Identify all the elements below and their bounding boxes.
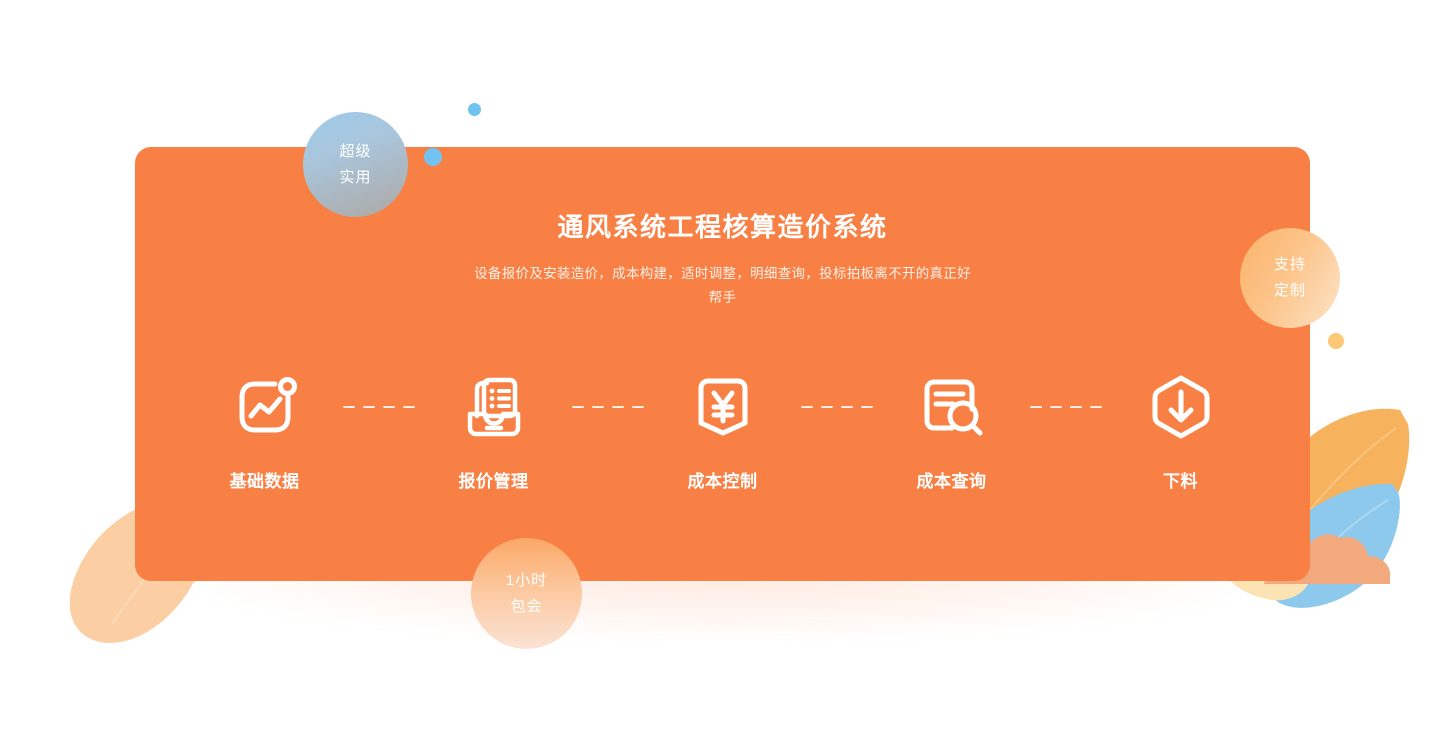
badge-line-2: 定制 [1274, 278, 1306, 304]
dash [1050, 406, 1062, 409]
dash [1030, 406, 1042, 409]
inbox-document-icon [452, 365, 536, 449]
dash [572, 406, 584, 409]
feature-item-quote-management[interactable]: 报价管理 [428, 365, 560, 492]
dash [821, 406, 833, 409]
document-search-icon [910, 365, 994, 449]
badge-support-custom: 支持 定制 [1240, 228, 1340, 328]
feature-label: 成本控制 [688, 467, 758, 492]
dash [1070, 406, 1082, 409]
hero-card: 通风系统工程核算造价系统 设备报价及安装造价，成本构建，适时调整，明细查询，投标… [135, 147, 1310, 581]
hexagon-download-icon [1139, 365, 1223, 449]
dash [612, 406, 624, 409]
dash [403, 406, 415, 409]
connector-dashes-2 [560, 365, 657, 449]
badge-line-1: 超级 [339, 139, 371, 165]
badge-line-2: 实用 [339, 165, 371, 191]
dash [841, 406, 853, 409]
page-subtitle: 设备报价及安装造价，成本构建，适时调整，明细查询，投标拍板离不开的真正好帮手 [468, 262, 978, 310]
hero-banner: 通风系统工程核算造价系统 设备报价及安装造价，成本构建，适时调整，明细查询，投标… [0, 0, 1440, 730]
badge-line-2: 包会 [510, 594, 542, 620]
feature-item-material-cutting[interactable]: 下料 [1115, 365, 1247, 492]
dash [592, 406, 604, 409]
connector-dashes-1 [331, 365, 428, 449]
badge-line-1: 支持 [1274, 252, 1306, 278]
badge-one-hour-guarantee: 1小时 包会 [471, 538, 582, 649]
feature-item-cost-control[interactable]: 成本控制 [657, 365, 789, 492]
connector-dashes-4 [1018, 365, 1115, 449]
blue-dot-small [468, 103, 481, 116]
badge-line-1: 1小时 [506, 568, 547, 594]
feature-label: 成本查询 [917, 467, 987, 492]
yuan-banner-icon [681, 365, 765, 449]
page-title: 通风系统工程核算造价系统 [135, 212, 1310, 243]
dash [1090, 406, 1102, 409]
orange-dot [1328, 333, 1344, 349]
chart-square-icon [223, 365, 307, 449]
feature-item-cost-query[interactable]: 成本查询 [886, 365, 1018, 492]
blue-dot-large [424, 148, 442, 166]
dash [801, 406, 813, 409]
dash [343, 406, 355, 409]
dash [861, 406, 873, 409]
feature-item-basic-data[interactable]: 基础数据 [199, 365, 331, 492]
badge-super-practical: 超级 实用 [303, 112, 408, 217]
connector-dashes-3 [789, 365, 886, 449]
feature-list: 基础数据 [135, 365, 1310, 492]
dash [632, 406, 644, 409]
dash [363, 406, 375, 409]
dash [383, 406, 395, 409]
feature-label: 报价管理 [459, 467, 529, 492]
feature-label: 下料 [1163, 467, 1198, 492]
feature-label: 基础数据 [230, 467, 300, 492]
